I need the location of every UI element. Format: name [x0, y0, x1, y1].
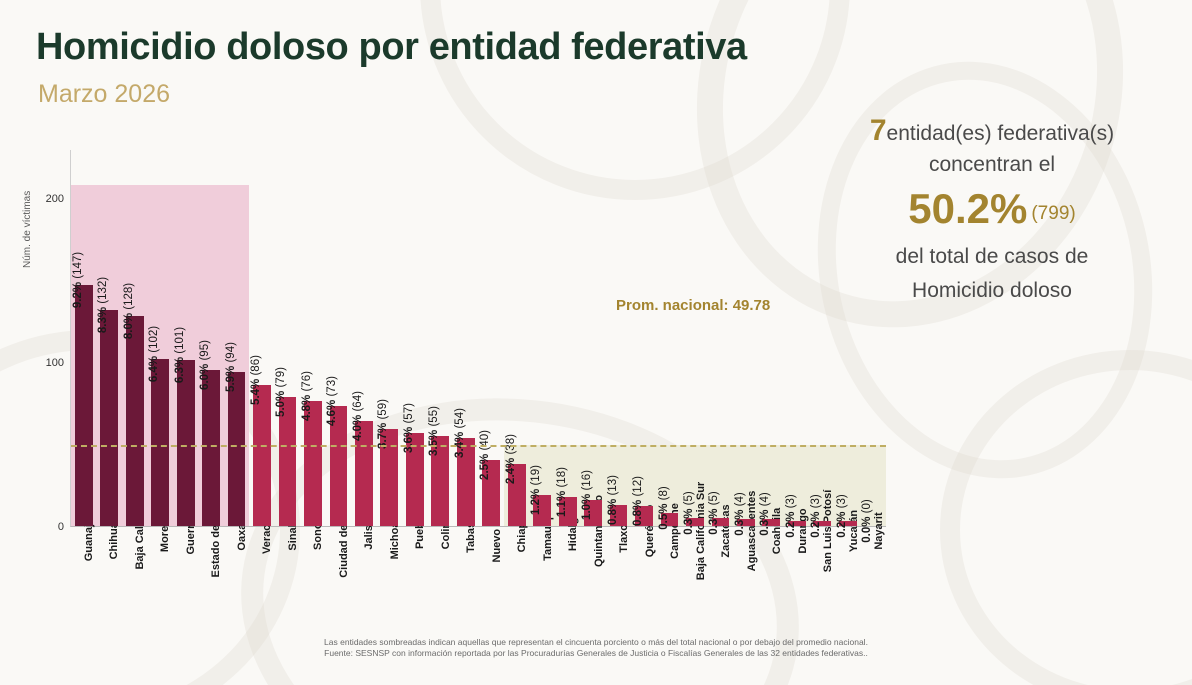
- footnote-line-2: Fuente: SESNSP con información reportada…: [0, 648, 1192, 659]
- bar-count: (57): [403, 403, 415, 427]
- bar-column[interactable]: 1.0% (16): [580, 150, 605, 526]
- bar-column[interactable]: 2.5% (40): [479, 150, 504, 526]
- x-axis-tick: Ciudad de México: [325, 529, 351, 639]
- page-subtitle: Marzo 2026: [38, 80, 170, 109]
- bar-column[interactable]: 2.4% (38): [504, 150, 529, 526]
- summary-entity-count: 7: [870, 114, 887, 147]
- bar-count: (12): [632, 476, 644, 500]
- y-axis-tick: 0: [30, 521, 64, 533]
- bar-percent: 5.0%: [275, 390, 287, 416]
- infographic-page: Homicidio doloso por entidad federativa …: [0, 0, 1192, 685]
- bar-value-label: 1.2% (19): [530, 465, 542, 515]
- x-axis-tick: Sinaloa: [274, 529, 300, 639]
- bar[interactable]: [100, 310, 118, 526]
- bar-column[interactable]: 0.3% (4): [759, 150, 784, 526]
- bar-column[interactable]: 3.7% (59): [377, 150, 402, 526]
- bar-value-label: 2.5% (40): [479, 431, 491, 481]
- bar-column[interactable]: 8.0% (128): [122, 150, 147, 526]
- bar[interactable]: [253, 385, 271, 526]
- x-axis-tick: Veracruz: [249, 529, 275, 639]
- bar-percent: 4.8%: [301, 395, 313, 421]
- bar-count: (3): [810, 494, 822, 511]
- bar-percent: 4.6%: [326, 400, 338, 426]
- plot-area: 9.2% (147)8.3% (132)8.0% (128)6.4% (102)…: [70, 150, 886, 527]
- x-axis-tick: Guanajuato: [70, 529, 96, 639]
- bar-count: (16): [581, 470, 593, 494]
- bar-column[interactable]: 6.3% (101): [173, 150, 198, 526]
- bar-count: (4): [759, 493, 771, 510]
- bar-percent: 6.3%: [174, 357, 186, 383]
- bar-column[interactable]: 0.3% (4): [733, 150, 758, 526]
- bar-series: 9.2% (147)8.3% (132)8.0% (128)6.4% (102)…: [71, 150, 886, 526]
- bar-value-label: 1.1% (18): [556, 467, 568, 517]
- bar-value-label: 8.0% (128): [123, 283, 135, 339]
- bar-percent: 0.2%: [810, 512, 822, 538]
- bar-column[interactable]: 3.4% (54): [453, 150, 478, 526]
- bar-value-label: 4.8% (76): [301, 372, 313, 422]
- bar-value-label: 5.9% (94): [225, 342, 237, 392]
- bar-percent: 0.8%: [632, 500, 644, 526]
- bar-count: (132): [97, 277, 109, 307]
- bar-count: (101): [174, 327, 186, 357]
- bar-percent: 0.3%: [708, 508, 720, 534]
- bar-value-label: 5.4% (86): [250, 355, 262, 405]
- bar-count: (94): [225, 342, 237, 366]
- bar-value-label: 9.2% (147): [72, 252, 84, 308]
- bar-column[interactable]: 5.0% (79): [275, 150, 300, 526]
- bar-value-label: 0.2% (3): [836, 494, 848, 537]
- bar-count: (79): [275, 367, 287, 391]
- bar-percent: 0.0%: [861, 517, 873, 543]
- bar-count: (5): [683, 491, 695, 508]
- bar-count: (73): [326, 376, 338, 400]
- x-axis-tick: Durango: [784, 529, 810, 639]
- y-axis-tick: 200: [30, 193, 64, 205]
- bar-count: (3): [836, 494, 848, 511]
- footnote: Las entidades sombreadas indican aquella…: [0, 637, 1192, 659]
- x-axis-tick: Zacatecas: [708, 529, 734, 639]
- bar[interactable]: [177, 360, 195, 526]
- y-axis-tick: 100: [30, 357, 64, 369]
- page-title: Homicidio doloso por entidad federativa: [36, 26, 747, 69]
- bar-value-label: 0.3% (5): [708, 491, 720, 534]
- bar-count: (5): [708, 491, 720, 508]
- bar-column[interactable]: 0.8% (12): [631, 150, 656, 526]
- x-axis-tick: Estado de México: [198, 529, 224, 639]
- x-axis-tick: Oaxaca: [223, 529, 249, 639]
- bar-count: (76): [301, 372, 313, 396]
- x-axis-tick: Guerrero: [172, 529, 198, 639]
- bar-percent: 1.2%: [530, 489, 542, 515]
- x-axis-tick: Morelos: [147, 529, 173, 639]
- x-axis-tick: Sonora: [300, 529, 326, 639]
- bar-value-label: 8.3% (132): [97, 277, 109, 333]
- bar-value-label: 0.8% (13): [607, 475, 619, 525]
- bar-column[interactable]: 0.5% (8): [657, 150, 682, 526]
- bar-count: (18): [556, 467, 568, 491]
- bar-count: (8): [658, 486, 670, 503]
- bar-percent: 4.0%: [352, 415, 364, 441]
- bar[interactable]: [126, 316, 144, 526]
- x-axis-tick: Hidalgo: [555, 529, 581, 639]
- x-axis-tick: Baja California Sur: [682, 529, 708, 639]
- bar-value-label: 4.0% (64): [352, 391, 364, 441]
- summary-line-1: 7entidad(es) federativa(s): [818, 116, 1166, 149]
- bar-count: (86): [250, 355, 262, 379]
- bar-value-label: 6.4% (102): [148, 326, 160, 382]
- bar-column[interactable]: 3.5% (55): [428, 150, 453, 526]
- bar-column[interactable]: 9.2% (147): [71, 150, 96, 526]
- x-axis-tick: Colima: [427, 529, 453, 639]
- bar-count: (3): [785, 494, 797, 511]
- bar[interactable]: [202, 370, 220, 526]
- x-axis-tick: Nayarit: [861, 529, 887, 639]
- bar-count: (55): [428, 406, 440, 430]
- x-axis-tick: Aguascalientes: [733, 529, 759, 639]
- x-axis-tick: Baja California: [121, 529, 147, 639]
- bar-count: (95): [199, 340, 211, 364]
- bar-column[interactable]: 5.4% (86): [249, 150, 274, 526]
- bar-value-label: 6.0% (95): [199, 340, 211, 390]
- bar-count: (147): [72, 252, 84, 282]
- x-axis-tick: Tamaulipas: [529, 529, 555, 639]
- bar-count: (4): [734, 493, 746, 510]
- bar-percent: 1.0%: [581, 494, 593, 520]
- bar-column[interactable]: 0.2% (3): [835, 150, 860, 526]
- bar-percent: 8.3%: [97, 307, 109, 333]
- bar[interactable]: [151, 359, 169, 526]
- x-axis-tick: Chiapas: [504, 529, 530, 639]
- bar-count: (102): [148, 326, 160, 356]
- bar-count: (64): [352, 391, 364, 415]
- x-axis-tick: Michoacán: [376, 529, 402, 639]
- summary-percent-count: (799): [1031, 203, 1075, 224]
- x-axis-tick: Coahuila: [759, 529, 785, 639]
- bar-value-label: 6.3% (101): [174, 327, 186, 383]
- bar-value-label: 0.3% (4): [759, 493, 771, 536]
- bar-percent: 0.2%: [785, 512, 797, 538]
- bar-column[interactable]: 0.3% (5): [682, 150, 707, 526]
- x-axis-tick: San Luis Potosí: [810, 529, 836, 639]
- bar-chart: Núm. de víctimas 0100200 9.2% (147)8.3% …: [26, 150, 886, 540]
- footnote-line-1: Las entidades sombreadas indican aquella…: [0, 637, 1192, 648]
- bar-value-label: 5.0% (79): [275, 367, 287, 417]
- x-axis-tick: Querétaro: [631, 529, 657, 639]
- x-axis-tick: Puebla: [402, 529, 428, 639]
- x-axis-tick: Chihuahua: [96, 529, 122, 639]
- bar-value-label: 3.4% (54): [454, 408, 466, 458]
- bar-count: (128): [123, 283, 135, 313]
- bar-percent: 5.9%: [225, 366, 237, 392]
- bar-count: (54): [454, 408, 466, 432]
- bar-value-label: 0.8% (12): [632, 476, 644, 526]
- bar-value-label: 0.2% (3): [785, 494, 797, 537]
- x-axis-labels: GuanajuatoChihuahuaBaja CaliforniaMorelo…: [70, 529, 886, 639]
- bar-percent: 2.5%: [479, 454, 491, 480]
- bar-percent: 6.0%: [199, 364, 211, 390]
- national-average-line: [71, 445, 886, 447]
- bar-percent: 6.4%: [148, 356, 160, 382]
- watermark-swirl: [940, 350, 1192, 685]
- bar-value-label: 4.6% (73): [326, 376, 338, 426]
- bar-count: (40): [479, 431, 491, 455]
- bar-count: (19): [530, 465, 542, 489]
- bar-value-label: 0.2% (3): [810, 494, 822, 537]
- bar-percent: 0.2%: [836, 512, 848, 538]
- bar-value-label: 0.0% (0): [861, 499, 873, 542]
- bar-percent: 0.8%: [607, 498, 619, 524]
- bar[interactable]: [75, 285, 93, 526]
- bar-column[interactable]: 0.3% (5): [708, 150, 733, 526]
- bar-value-label: 0.3% (4): [734, 493, 746, 536]
- bar-column[interactable]: 0.2% (3): [784, 150, 809, 526]
- bar-percent: 3.6%: [403, 426, 415, 452]
- bar-column[interactable]: 4.6% (73): [326, 150, 351, 526]
- bar-column[interactable]: 3.6% (57): [402, 150, 427, 526]
- bar-column[interactable]: 1.1% (18): [555, 150, 580, 526]
- bar-percent: 2.4%: [505, 457, 517, 483]
- x-axis-tick: Nuevo León: [478, 529, 504, 639]
- x-axis-tick: Quintana Roo: [580, 529, 606, 639]
- bar-percent: 0.5%: [658, 503, 670, 529]
- bar-column[interactable]: 4.8% (76): [300, 150, 325, 526]
- bar-column[interactable]: 0.8% (13): [606, 150, 631, 526]
- bar-column[interactable]: 8.3% (132): [96, 150, 121, 526]
- bar-percent: 0.3%: [734, 510, 746, 536]
- bar-percent: 0.3%: [683, 508, 695, 534]
- x-axis-tick: Tabasco: [453, 529, 479, 639]
- bar-value-label: 3.5% (55): [428, 406, 440, 456]
- bar-value-label: 0.3% (5): [683, 491, 695, 534]
- x-axis-tick: Tlaxcala: [606, 529, 632, 639]
- summary-percent: 50.2%: [908, 185, 1027, 232]
- bar-column[interactable]: 0.2% (3): [810, 150, 835, 526]
- x-axis-tick: Campeche: [657, 529, 683, 639]
- bar-percent: 0.3%: [759, 510, 771, 536]
- national-average-label: Prom. nacional: 49.78: [616, 297, 770, 314]
- summary-entity-text: entidad(es) federativa(s): [887, 122, 1115, 145]
- bar-column[interactable]: 1.2% (19): [529, 150, 554, 526]
- bar-value-label: 0.5% (8): [658, 486, 670, 529]
- bar-count: (59): [377, 399, 389, 423]
- x-axis-tick: Jalisco: [351, 529, 377, 639]
- bar-percent: 3.5%: [428, 430, 440, 456]
- x-axis-tick: Yucatán: [835, 529, 861, 639]
- bar[interactable]: [228, 372, 246, 526]
- bar-percent: 8.0%: [123, 313, 135, 339]
- bar-column[interactable]: 4.0% (64): [351, 150, 376, 526]
- bar-value-label: 1.0% (16): [581, 470, 593, 520]
- bar-percent: 3.4%: [454, 431, 466, 457]
- bar-percent: 5.4%: [250, 379, 262, 405]
- bar-value-label: 2.4% (38): [505, 434, 517, 484]
- bar-percent: 1.1%: [556, 490, 568, 516]
- bar-value-label: 3.7% (59): [377, 399, 389, 449]
- bar-count: (0): [861, 499, 873, 516]
- bar-column[interactable]: 6.4% (102): [147, 150, 172, 526]
- bar-percent: 9.2%: [72, 282, 84, 308]
- bar-column[interactable]: 6.0% (95): [198, 150, 223, 526]
- bar-count: (13): [607, 475, 619, 499]
- bar-column[interactable]: 5.9% (94): [224, 150, 249, 526]
- bar-column[interactable]: 0.0% (0): [861, 150, 886, 526]
